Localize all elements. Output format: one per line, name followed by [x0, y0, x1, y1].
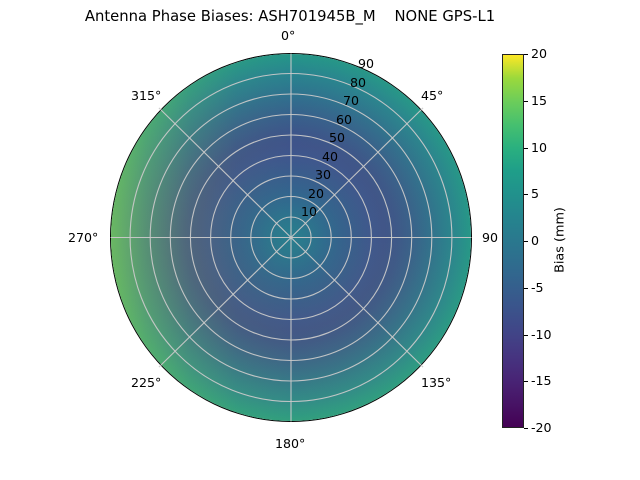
colorbar[interactable]: 20 15 10 5 0 -5 -10 -15 -20 — [502, 54, 524, 428]
angle-label-90: 90 — [482, 231, 498, 245]
colorbar-tick-5 — [524, 194, 528, 195]
colorbar-ticklabel-m10: -10 — [531, 328, 552, 342]
polar-axes[interactable] — [110, 53, 472, 422]
heatmap-rim-shading — [110, 53, 472, 422]
radial-label-70: 70 — [343, 94, 359, 108]
colorbar-tick-15 — [524, 101, 528, 102]
colorbar-ticklabel-5: 5 — [531, 187, 539, 201]
radial-label-30: 30 — [315, 168, 331, 182]
colorbar-tick-m15 — [524, 381, 528, 382]
angle-label-45: 45° — [421, 89, 443, 103]
colorbar-ticklabel-0: 0 — [531, 234, 539, 248]
radial-label-50: 50 — [329, 131, 345, 145]
colorbar-ticklabel-m15: -15 — [531, 374, 552, 388]
angle-label-270: 270° — [68, 231, 98, 245]
colorbar-tick-20 — [524, 54, 528, 55]
colorbar-ticklabel-m20: -20 — [531, 421, 552, 435]
colorbar-ticklabel-15: 15 — [531, 94, 547, 108]
colorbar-gradient — [502, 54, 524, 428]
colorbar-tick-m5 — [524, 288, 528, 289]
radial-label-10: 10 — [301, 205, 317, 219]
radial-label-80: 80 — [350, 76, 366, 90]
colorbar-ticklabel-20: 20 — [531, 47, 547, 61]
chart-title: Antenna Phase Biases: ASH701945B_M NONE … — [0, 8, 580, 26]
angle-label-315: 315° — [131, 89, 161, 103]
colorbar-tick-m10 — [524, 335, 528, 336]
angle-label-225: 225° — [131, 376, 161, 390]
colorbar-ticklabel-m5: -5 — [531, 281, 544, 295]
colorbar-tick-0 — [524, 241, 528, 242]
radial-label-20: 20 — [308, 187, 324, 201]
figure-canvas: Antenna Phase Biases: ASH701945B_M NONE … — [0, 0, 640, 480]
colorbar-axis-label: Bias (mm) — [553, 207, 568, 273]
radial-label-90: 90 — [358, 57, 374, 71]
radial-label-60: 60 — [336, 113, 352, 127]
angle-label-0: 0° — [281, 29, 295, 43]
angle-label-180: 180° — [275, 437, 305, 451]
colorbar-tick-m20 — [524, 428, 528, 429]
polar-heatmap-surface — [110, 53, 472, 422]
radial-label-40: 40 — [322, 150, 338, 164]
colorbar-ticklabel-10: 10 — [531, 141, 547, 155]
colorbar-tick-10 — [524, 148, 528, 149]
angle-label-135: 135° — [421, 376, 451, 390]
